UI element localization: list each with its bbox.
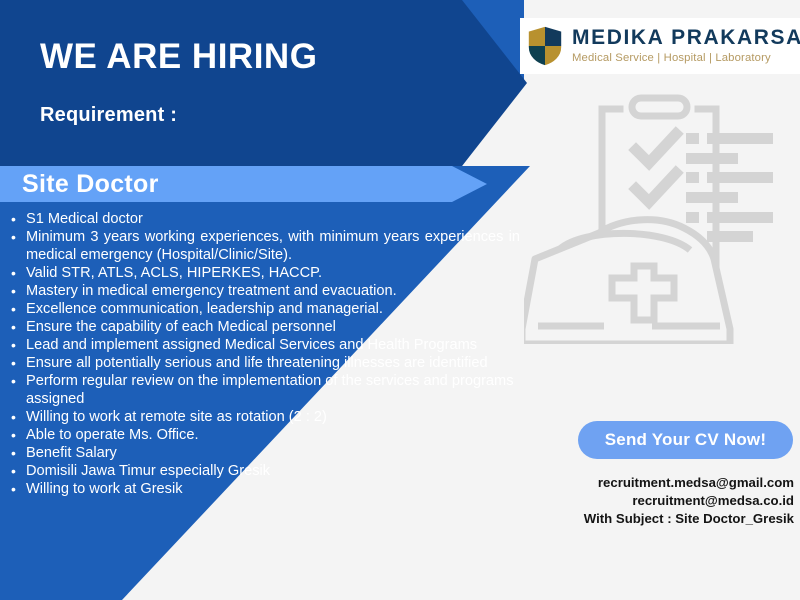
requirement-item: Able to operate Ms. Office. [8,426,520,444]
shield-icon [526,25,564,67]
requirement-item: Domisili Jawa Timur especially Gresik [8,462,520,480]
clipboard-checklist-nurse-cap-icon [524,88,796,344]
position-title: Site Doctor [0,170,159,199]
requirement-item: Ensure all potentially serious and life … [8,354,520,372]
requirement-item: Lead and implement assigned Medical Serv… [8,336,520,354]
contact-line: recruitment.medsa@gmail.com [534,474,794,492]
hiring-poster: WE ARE HIRING Requirement : Site Doctor … [0,0,800,600]
requirement-item: Willing to work at remote site as rotati… [8,408,520,426]
company-logo: MEDIKA PRAKARSA Medical Service | Hospit… [520,18,800,74]
contact-details: recruitment.medsa@gmail.comrecruitment@m… [534,474,794,528]
position-banner: Site Doctor [0,166,487,202]
requirement-item: Perform regular review on the implementa… [8,372,520,408]
requirement-item: Mastery in medical emergency treatment a… [8,282,520,300]
requirement-item: Minimum 3 years working experiences, wit… [8,228,520,264]
logo-text-group: MEDIKA PRAKARSA Medical Service | Hospit… [572,27,800,66]
requirement-item: Benefit Salary [8,444,520,462]
requirement-item: Willing to work at Gresik [8,480,520,498]
contact-line: recruitment@medsa.co.id [534,492,794,510]
requirement-item: S1 Medical doctor [8,210,520,228]
contact-line: With Subject : Site Doctor_Gresik [534,510,794,528]
requirement-heading: Requirement : [40,104,177,127]
logo-title: MEDIKA PRAKARSA [572,27,800,49]
logo-tagline: Medical Service | Hospital | Laboratory [572,51,800,66]
page-title: WE ARE HIRING [40,38,317,77]
requirement-item: Valid STR, ATLS, ACLS, HIPERKES, HACCP. [8,264,520,282]
requirement-item: Excellence communication, leadership and… [8,300,520,318]
send-cv-button[interactable]: Send Your CV Now! [578,421,793,459]
requirements-list: S1 Medical doctorMinimum 3 years working… [8,210,520,498]
requirement-item: Ensure the capability of each Medical pe… [8,318,520,336]
